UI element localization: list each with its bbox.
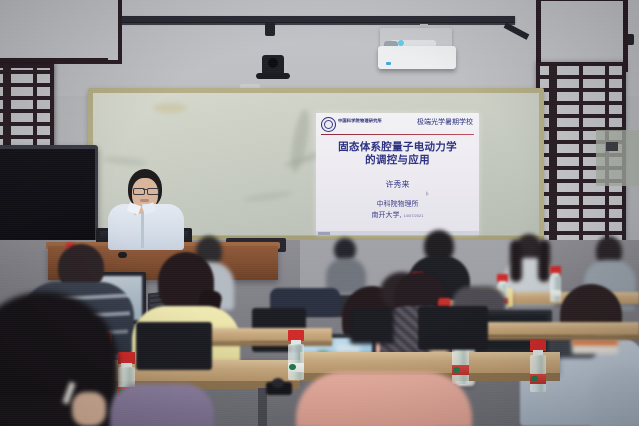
slide-affiliation: 中科院物理所 南开大学, 14/07/2021 — [316, 199, 479, 221]
water-bottle[interactable] — [550, 266, 561, 302]
lattice-panel-left-top-frame — [0, 0, 122, 64]
water-bottle[interactable] — [530, 340, 546, 392]
track-lamp-center — [265, 22, 275, 36]
wall-camera-mount — [256, 73, 290, 79]
mouse-cursor-icon — [426, 191, 429, 196]
speaker-glasses-icon — [147, 188, 159, 195]
speaker-glasses-bridge-icon — [143, 189, 147, 190]
slide-school-banner: 极端光学暑期学校 — [417, 117, 473, 127]
slide-affiliation-line-2: 南开大学, 14/07/2021 — [316, 210, 479, 221]
wall-control-panel[interactable] — [596, 130, 639, 186]
attendee-hair-long-right — [510, 240, 522, 282]
ceiling-track-rail-shadow — [95, 22, 515, 25]
chair-back-left — [136, 322, 212, 370]
bottle-cap — [439, 298, 450, 305]
slide-author: 许秀来 — [316, 179, 479, 190]
papers-accent — [572, 340, 618, 345]
whiteboard-smudge — [243, 190, 293, 204]
bottle-brand-mark-icon — [289, 364, 295, 370]
whiteboard-smudge — [153, 103, 187, 113]
attendee-body-purple-top — [110, 384, 214, 426]
lecture-hall-photo: 中国科学院物理研究所 极端光学暑期学校 固态体系腔量子电动力学 的调控与应用 许… — [0, 0, 639, 426]
slide-date: 14/07/2021 — [403, 213, 423, 218]
projector-power-led-icon — [386, 62, 391, 65]
water-bottle[interactable] — [288, 330, 304, 380]
keys-on-desk — [272, 378, 284, 388]
wall-camera-lens-icon — [268, 58, 278, 68]
podium-mouse[interactable] — [118, 252, 127, 258]
wall-switch-icon[interactable] — [606, 142, 618, 151]
bottle-label — [550, 290, 561, 297]
bottle-body — [288, 344, 304, 380]
wall-television-screen[interactable] — [0, 149, 95, 251]
slide-title-line-1: 固态体系腔量子电动力学 — [316, 141, 479, 154]
attendee-body-pink-front — [296, 372, 472, 426]
bottle-body — [550, 276, 561, 302]
slide-divider-rule — [321, 134, 474, 135]
bottle-body — [530, 355, 546, 392]
taskbar-start-button[interactable] — [318, 232, 330, 235]
slide-organization: 中国科学院物理研究所 — [338, 118, 382, 124]
chair-back-right — [418, 306, 488, 350]
slide-taskbar — [316, 231, 479, 235]
institute-logo-inner-icon — [324, 120, 333, 129]
projected-slide: 中国科学院物理研究所 极端光学暑期学校 固态体系腔量子电动力学 的调控与应用 许… — [316, 113, 479, 235]
lattice-overlay-left — [0, 68, 50, 148]
whiteboard-smudge — [103, 155, 148, 168]
desk-mid-center — [196, 328, 332, 342]
attendee-hand-holding-pen — [72, 392, 106, 426]
lattice-panel-left — [0, 64, 54, 152]
ceiling-projector — [378, 46, 456, 69]
bottle-body — [452, 345, 469, 384]
desk-front-right — [300, 352, 560, 374]
slide-title: 固态体系腔量子电动力学 的调控与应用 — [316, 141, 479, 167]
attendee-hair-long-right — [538, 240, 550, 282]
slide-title-line-2: 的调控与应用 — [316, 154, 479, 167]
lattice-pattern-left — [0, 68, 50, 148]
desk-mid-center-edge — [196, 341, 332, 346]
bottle-brand-mark-icon — [531, 376, 537, 382]
attendee-body-far-right-front — [590, 368, 639, 426]
slide-affiliation-line-1: 中科院物理所 — [316, 199, 479, 210]
chair-back-center-right — [350, 308, 394, 344]
